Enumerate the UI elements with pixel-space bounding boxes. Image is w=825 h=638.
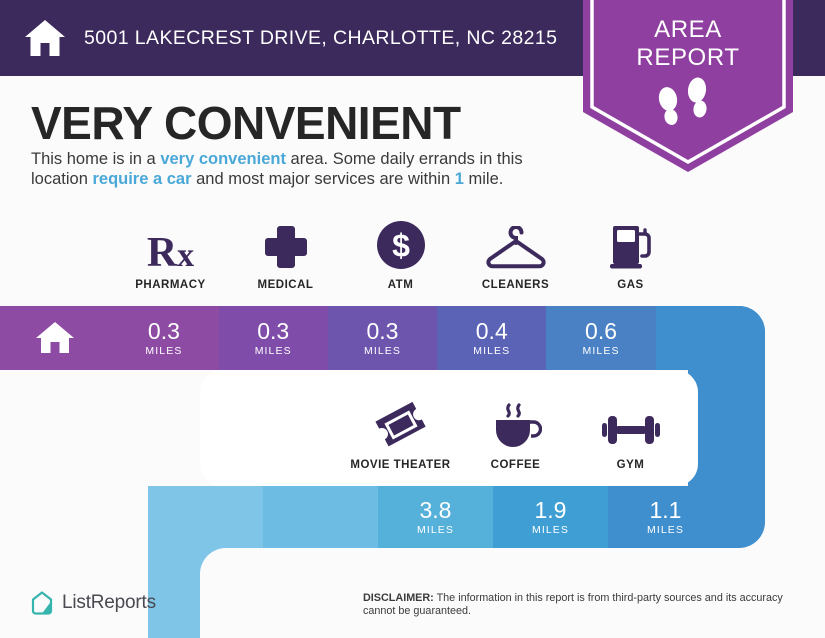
summary-part-3: and most major services are within [192, 170, 455, 188]
distance-unit: MILES [255, 345, 292, 357]
area-report-badge: AREA REPORT [583, 0, 793, 174]
disclaimer: DISCLAIMER: The information in this repo… [363, 592, 808, 619]
distance-atm: 0.3 MILES [328, 306, 437, 370]
medical-cross-icon [263, 218, 309, 270]
coffee-cup-icon [490, 398, 542, 450]
disclaimer-label: DISCLAIMER: [363, 592, 434, 604]
category-label: GAS [617, 279, 643, 291]
distance-value: 0.6 [585, 319, 617, 343]
distance-gas: 0.6 MILES [546, 306, 655, 370]
distance-pharmacy: 0.3 MILES [109, 306, 218, 370]
logo-text: ListReports [62, 592, 156, 614]
rx-icon: Rx [147, 218, 194, 270]
dumbbell-icon [602, 398, 660, 450]
svg-text:$: $ [392, 228, 410, 264]
home-icon [35, 321, 75, 355]
category-gym: GYM [573, 398, 688, 471]
category-gas: GAS [573, 218, 688, 291]
distance-value: 0.3 [257, 319, 289, 343]
summary-part-1: This home is in a [31, 150, 160, 168]
category-label: MOVIE THEATER [350, 459, 450, 471]
category-medical: MEDICAL [228, 218, 343, 291]
category-label: COFFEE [491, 459, 541, 471]
summary-highlight-1: very convenient [160, 150, 286, 168]
distance-cleaners: 0.4 MILES [437, 306, 546, 370]
dollar-circle-icon: $ [376, 218, 426, 270]
summary-text: This home is in a very convenient area. … [31, 150, 576, 189]
distance-movie-theater: 3.8 MILES [378, 486, 493, 548]
distance-value: 0.4 [476, 319, 508, 343]
distance-value: 3.8 [420, 498, 452, 522]
distance-unit: MILES [532, 524, 569, 536]
page-title: VERY CONVENIENT [31, 96, 461, 150]
summary-highlight-2: require a car [92, 170, 191, 188]
category-pharmacy: Rx PHARMACY [113, 218, 228, 291]
distance-coffee: 1.9 MILES [493, 486, 608, 548]
category-label: PHARMACY [135, 279, 205, 291]
distance-gym: 1.1 MILES [608, 486, 723, 548]
distance-unit: MILES [364, 345, 401, 357]
category-label: MEDICAL [258, 279, 314, 291]
distance-unit: MILES [417, 524, 454, 536]
summary-part-4: mile. [464, 170, 503, 188]
distance-value: 1.9 [535, 498, 567, 522]
category-label: GYM [617, 459, 645, 471]
gas-pump-icon [607, 218, 655, 270]
hanger-icon [486, 218, 546, 270]
category-cleaners: CLEANERS [458, 218, 573, 291]
home-segment [0, 306, 109, 370]
property-address: 5001 LAKECREST DRIVE, CHARLOTTE, NC 2821… [84, 27, 557, 50]
area-report-infographic: 5001 LAKECREST DRIVE, CHARLOTTE, NC 2821… [0, 0, 825, 638]
movie-ticket-icon [374, 398, 428, 450]
distance-unit: MILES [473, 345, 510, 357]
category-icons-row-2: MOVIE THEATER COFFEE [343, 398, 688, 471]
bar-lead-1 [148, 486, 263, 548]
distance-value: 0.3 [148, 319, 180, 343]
listreports-logo[interactable]: ListReports [30, 590, 156, 616]
category-coffee: COFFEE [458, 398, 573, 471]
category-label: ATM [388, 279, 414, 291]
bar-tail-right [656, 306, 765, 370]
distance-bar-row-1: 0.3 MILES 0.3 MILES 0.3 MILES 0.4 MILES … [0, 306, 765, 370]
distance-medical: 0.3 MILES [219, 306, 328, 370]
category-movie-theater: MOVIE THEATER [343, 398, 458, 471]
category-label: CLEANERS [482, 279, 549, 291]
bar-lead-2 [263, 486, 378, 548]
listreports-house-icon [30, 590, 54, 616]
distance-value: 1.1 [650, 498, 682, 522]
summary-highlight-3: 1 [455, 170, 464, 188]
distance-unit: MILES [583, 345, 620, 357]
home-icon [24, 18, 66, 58]
distance-unit: MILES [145, 345, 182, 357]
distance-value: 0.3 [366, 319, 398, 343]
distance-unit: MILES [647, 524, 684, 536]
category-icons-row-1: Rx PHARMACY MEDICAL $ ATM [113, 218, 688, 291]
distance-bar-row-2: 3.8 MILES 1.9 MILES 1.1 MILES [148, 486, 765, 548]
category-atm: $ ATM [343, 218, 458, 291]
